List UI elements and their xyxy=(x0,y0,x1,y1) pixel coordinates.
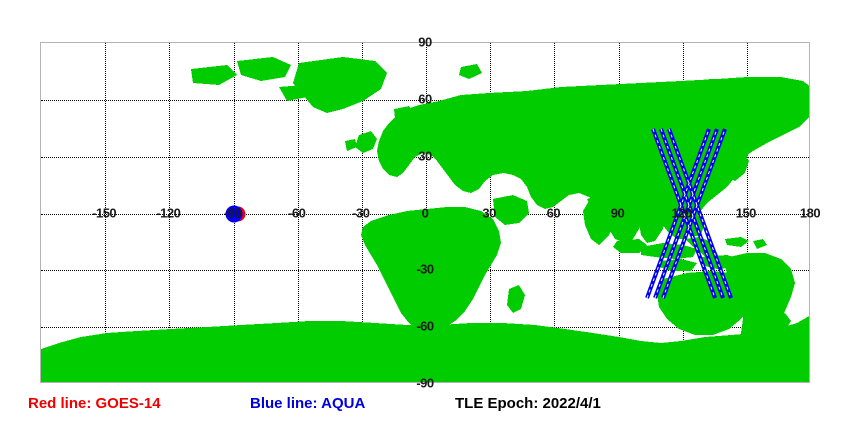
lat-tick--60: -60 xyxy=(416,319,433,334)
lon-tick-60: 60 xyxy=(547,205,560,220)
lon-tick-90: 90 xyxy=(611,205,624,220)
legend-blue-line-aqua: Blue line: AQUA xyxy=(250,392,365,416)
lon-tick-0: 0 xyxy=(422,205,429,220)
lon-tick-30: 30 xyxy=(482,205,495,220)
lon-tick-120: 120 xyxy=(672,205,692,220)
satellite-ground-track-map: -300306090120150180-150-120-90-60906030-… xyxy=(0,0,850,390)
lon-tick-150: 150 xyxy=(736,205,756,220)
lat-tick-60: 60 xyxy=(418,91,431,106)
lat-tick--30: -30 xyxy=(416,262,433,277)
lat-tick-30: 30 xyxy=(418,148,431,163)
lon-tick--120: -120 xyxy=(156,205,180,220)
lon-tick-180: 180 xyxy=(800,205,820,220)
lon-tick--30: -30 xyxy=(352,205,369,220)
legend-tle-epoch: TLE Epoch: 2022/4/1 xyxy=(455,392,601,416)
legend-caption-bar: Red line: GOES-14 Blue line: AQUA TLE Ep… xyxy=(0,392,850,425)
lat-tick-90: 90 xyxy=(418,35,431,50)
lat-tick--90: -90 xyxy=(416,376,433,391)
lon-tick--90: -90 xyxy=(224,205,241,220)
lon-tick--150: -150 xyxy=(92,205,116,220)
legend-red-line-goes14: Red line: GOES-14 xyxy=(28,392,161,416)
lon-tick--60: -60 xyxy=(288,205,305,220)
